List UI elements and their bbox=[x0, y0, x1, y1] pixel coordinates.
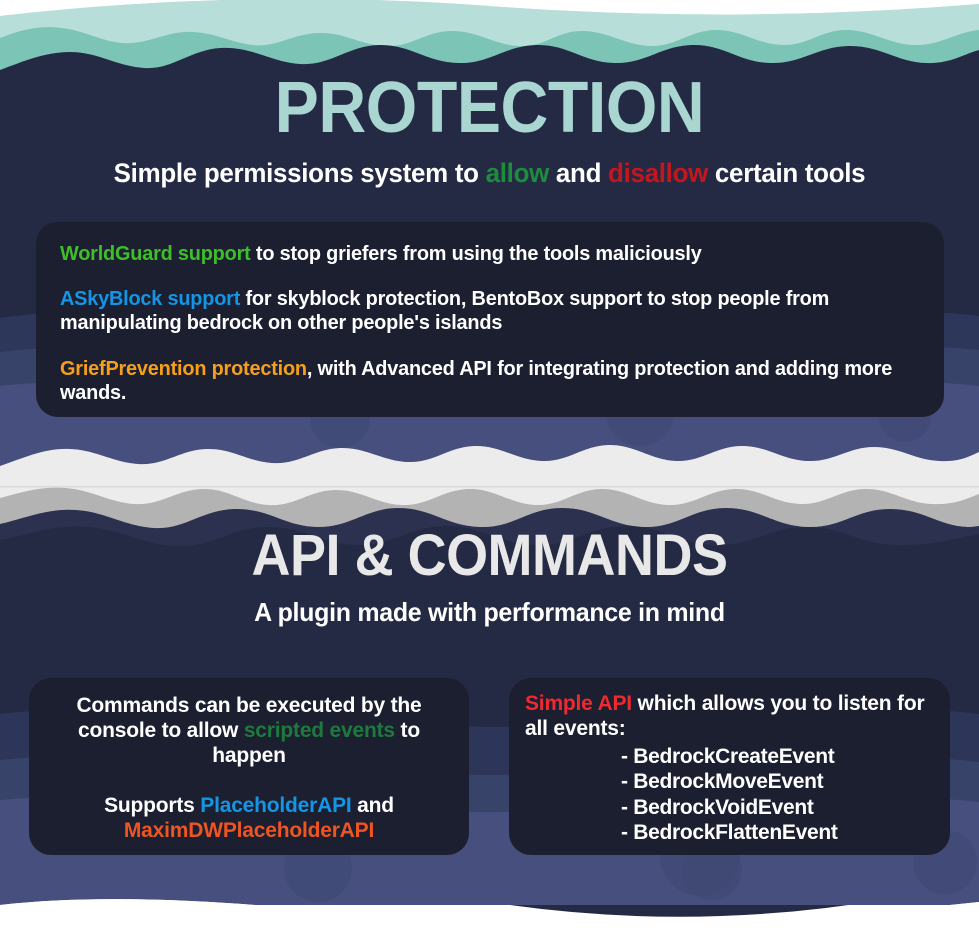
api-commands-subtitle: A plugin made with performance in mind bbox=[20, 597, 960, 628]
feature-bullet-griefprevention-highlight: GriefPrevention protection bbox=[60, 357, 307, 380]
protection-title: PROTECTION bbox=[39, 72, 940, 144]
commands-card-paragraph-1: Commands can be executed by the console … bbox=[47, 694, 451, 768]
feature-bullet-askyblock: ASkyBlock support for skyblock protectio… bbox=[60, 287, 894, 335]
feature-bullet-worldguard: WorldGuard support to stop griefers from… bbox=[60, 242, 894, 266]
feature-bullet-griefprevention: GriefPrevention protection, with Advance… bbox=[60, 357, 894, 405]
protection-features-card: WorldGuard support to stop griefers from… bbox=[36, 222, 944, 417]
api-commands-title: API & COMMANDS bbox=[34, 527, 944, 585]
protection-subtitle-allow: allow bbox=[486, 158, 549, 188]
commands-card-paragraph-2: Supports PlaceholderAPI and MaximDWPlace… bbox=[47, 794, 451, 844]
protection-subtitle-part1: Simple permissions system to bbox=[114, 158, 486, 188]
api-card-intro: Simple API which allows you to listen fo… bbox=[525, 692, 934, 742]
protection-subtitle-disallow: disallow bbox=[608, 158, 708, 188]
protection-subtitle-part3: certain tools bbox=[708, 158, 865, 188]
poster-root: PROTECTION Simple permissions system to … bbox=[0, 0, 979, 933]
supports-text-maximdwplaceholderapi: MaximDWPlaceholderAPI bbox=[124, 819, 374, 842]
api-events-card: Simple API which allows you to listen fo… bbox=[509, 678, 950, 855]
commands-text-scripted-events: scripted events bbox=[244, 719, 395, 742]
feature-bullet-worldguard-highlight: WorldGuard support bbox=[60, 242, 251, 265]
api-event-item: - BedrockVoidEvent bbox=[621, 795, 934, 821]
protection-subtitle-part2: and bbox=[549, 158, 608, 188]
protection-section: PROTECTION Simple permissions system to … bbox=[0, 72, 979, 189]
api-commands-section: API & COMMANDS A plugin made with perfor… bbox=[0, 527, 979, 628]
api-event-item: - BedrockCreateEvent bbox=[621, 744, 934, 770]
supports-text-part1: Supports bbox=[104, 794, 200, 817]
api-event-list: - BedrockCreateEvent - BedrockMoveEvent … bbox=[525, 744, 934, 846]
api-event-item: - BedrockMoveEvent bbox=[621, 769, 934, 795]
supports-text-placeholderapi: PlaceholderAPI bbox=[200, 794, 351, 817]
supports-text-part2: and bbox=[352, 794, 394, 817]
api-card-intro-highlight: Simple API bbox=[525, 692, 632, 715]
protection-subtitle: Simple permissions system to allow and d… bbox=[20, 158, 960, 189]
feature-bullet-worldguard-text: to stop griefers from using the tools ma… bbox=[251, 242, 702, 265]
feature-bullet-askyblock-highlight: ASkyBlock support bbox=[60, 287, 240, 310]
commands-card: Commands can be executed by the console … bbox=[29, 678, 469, 855]
api-event-item: - BedrockFlattenEvent bbox=[621, 820, 934, 846]
